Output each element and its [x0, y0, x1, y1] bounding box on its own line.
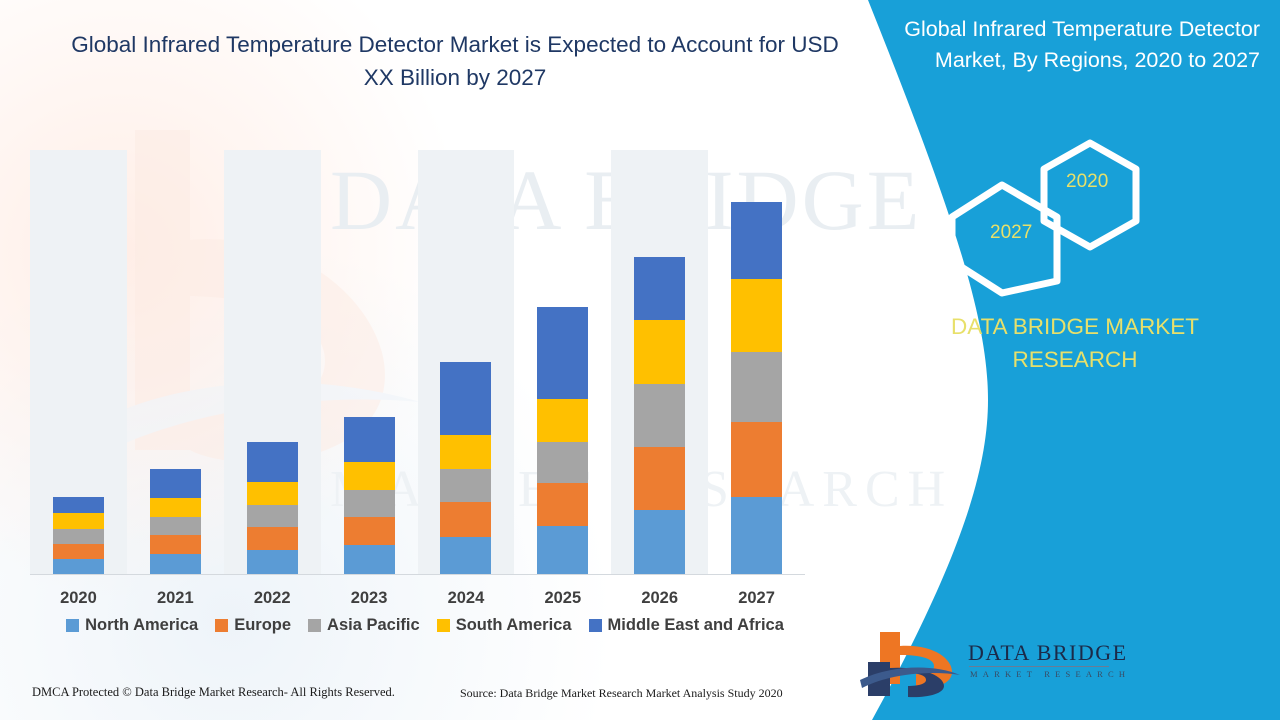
- company-logo-icon: [860, 628, 960, 700]
- bar-slot: [514, 150, 611, 575]
- x-axis-label: 2025: [514, 589, 611, 608]
- bar-slot: [321, 150, 418, 575]
- brand-name-line2: RESEARCH: [1012, 347, 1137, 372]
- bar-segment[interactable]: [247, 505, 298, 527]
- bar-slot: [418, 150, 515, 575]
- infographic-canvas: DATA BRIDGE MARKET RESEARCH Global Infra…: [0, 0, 1280, 720]
- bar-segment[interactable]: [731, 422, 782, 497]
- bar-segment[interactable]: [634, 257, 685, 320]
- x-axis-label: 2022: [224, 589, 321, 608]
- legend-label: Middle East and Africa: [608, 616, 784, 635]
- bar-slot: [30, 150, 127, 575]
- logo-tagline: MARKET RESEARCH: [970, 669, 1130, 679]
- bar-segment[interactable]: [344, 417, 395, 462]
- x-axis-line: [30, 574, 805, 575]
- bar-slot: [224, 150, 321, 575]
- bar-segment[interactable]: [53, 529, 104, 544]
- legend-label: Asia Pacific: [327, 616, 420, 635]
- bar-segment[interactable]: [537, 442, 588, 483]
- bar-segment[interactable]: [731, 279, 782, 352]
- x-axis-label: 2024: [418, 589, 515, 608]
- bar-segment[interactable]: [731, 352, 782, 422]
- logo-divider: [969, 666, 1109, 667]
- legend-swatch: [437, 619, 450, 632]
- brand-panel-content: Global Infrared Temperature Detector Mar…: [840, 0, 1280, 720]
- panel-title: Global Infrared Temperature Detector Mar…: [870, 14, 1260, 76]
- legend-label: North America: [85, 616, 198, 635]
- chart-legend: North AmericaEuropeAsia PacificSouth Ame…: [30, 616, 820, 635]
- bar-segment[interactable]: [150, 498, 201, 517]
- bar-segment[interactable]: [634, 384, 685, 447]
- stacked-bar[interactable]: [344, 417, 395, 575]
- hexagon-group: 2020 2027: [940, 135, 1170, 300]
- hexagon-2020-label: 2020: [1066, 171, 1108, 193]
- bar-slot: [127, 150, 224, 575]
- logo-wordmark: DATA BRIDGE: [968, 640, 1128, 666]
- bar-segment[interactable]: [53, 513, 104, 529]
- x-axis-label: 2027: [708, 589, 805, 608]
- bar-slot: [708, 150, 805, 575]
- page-title: Global Infrared Temperature Detector Mar…: [60, 28, 850, 94]
- bar-segment[interactable]: [634, 510, 685, 575]
- hexagon-2027-label: 2027: [990, 222, 1032, 244]
- bar-segment[interactable]: [247, 550, 298, 575]
- footer-copyright: DMCA Protected © Data Bridge Market Rese…: [32, 685, 395, 700]
- bar-segment[interactable]: [344, 462, 395, 490]
- bar-segment[interactable]: [731, 202, 782, 279]
- stacked-bar[interactable]: [731, 202, 782, 575]
- legend-swatch: [589, 619, 602, 632]
- legend-item[interactable]: Europe: [215, 616, 291, 635]
- stacked-bar[interactable]: [537, 307, 588, 575]
- company-logo: DATA BRIDGE MARKET RESEARCH: [860, 628, 1110, 700]
- stacked-bar[interactable]: [247, 442, 298, 575]
- bar-segment[interactable]: [634, 320, 685, 384]
- legend-item[interactable]: Middle East and Africa: [589, 616, 784, 635]
- legend-item[interactable]: North America: [66, 616, 198, 635]
- bar-segment[interactable]: [247, 482, 298, 505]
- bar-segment[interactable]: [537, 483, 588, 526]
- bar-segment[interactable]: [440, 469, 491, 502]
- bar-segment[interactable]: [344, 517, 395, 545]
- legend-label: South America: [456, 616, 572, 635]
- x-axis-label: 2023: [321, 589, 418, 608]
- stacked-bar[interactable]: [440, 362, 491, 575]
- stacked-bar[interactable]: [53, 497, 104, 575]
- x-axis-label: 2020: [30, 589, 127, 608]
- stacked-bar[interactable]: [634, 257, 685, 575]
- footer-source: Source: Data Bridge Market Research Mark…: [460, 686, 783, 701]
- bar-segment[interactable]: [537, 399, 588, 442]
- bar-segment[interactable]: [150, 517, 201, 535]
- bar-segment[interactable]: [150, 469, 201, 498]
- bar-segment[interactable]: [53, 497, 104, 513]
- legend-swatch: [215, 619, 228, 632]
- bar-segment[interactable]: [440, 362, 491, 435]
- legend-item[interactable]: Asia Pacific: [308, 616, 420, 635]
- bar-segment[interactable]: [150, 535, 201, 554]
- bar-segment[interactable]: [440, 435, 491, 469]
- bar-segment[interactable]: [344, 490, 395, 517]
- bar-segment[interactable]: [150, 554, 201, 575]
- bar-segment[interactable]: [731, 497, 782, 575]
- legend-label: Europe: [234, 616, 291, 635]
- x-axis-label: 2026: [611, 589, 708, 608]
- brand-name: DATA BRIDGE MARKET RESEARCH: [895, 310, 1255, 376]
- brand-name-line1: DATA BRIDGE MARKET: [951, 314, 1199, 339]
- bar-segment[interactable]: [537, 526, 588, 575]
- legend-swatch: [66, 619, 79, 632]
- bar-segment[interactable]: [247, 527, 298, 550]
- x-axis-labels: 20202021202220232024202520262027: [30, 589, 805, 608]
- bar-segment[interactable]: [634, 447, 685, 510]
- bar-segment[interactable]: [440, 502, 491, 537]
- bar-slot: [611, 150, 708, 575]
- bar-segment[interactable]: [344, 545, 395, 575]
- stacked-bars: [30, 150, 805, 575]
- stacked-bar[interactable]: [150, 469, 201, 575]
- bar-segment[interactable]: [53, 559, 104, 575]
- x-axis-label: 2021: [127, 589, 224, 608]
- bar-segment[interactable]: [53, 544, 104, 559]
- bar-segment[interactable]: [537, 307, 588, 399]
- legend-swatch: [308, 619, 321, 632]
- bar-segment[interactable]: [247, 442, 298, 482]
- chart-plot-area: [30, 150, 805, 575]
- legend-item[interactable]: South America: [437, 616, 572, 635]
- bar-segment[interactable]: [440, 537, 491, 575]
